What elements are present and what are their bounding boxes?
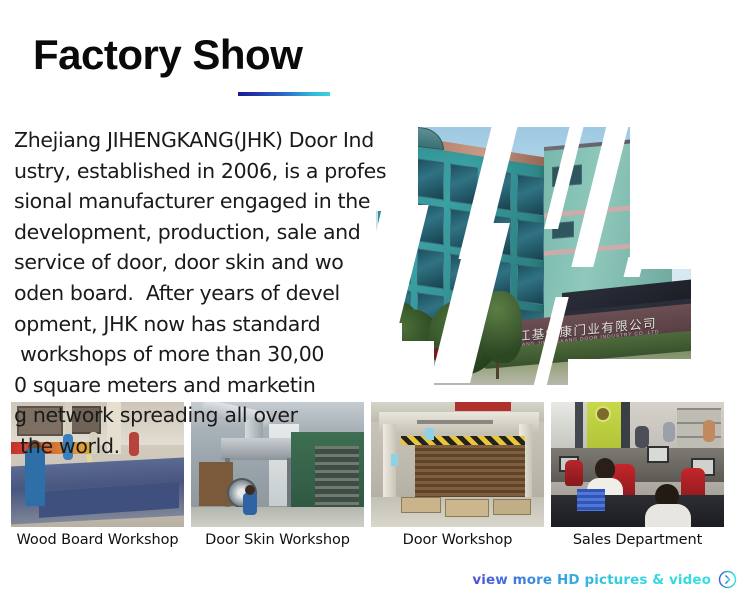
caption-wood-board-workshop: Wood Board Workshop: [11, 532, 184, 548]
staff-body: [645, 504, 691, 527]
title-underline-accent: [238, 92, 330, 96]
thumbnail-caption-row: Wood Board Workshop Door Skin Workshop D…: [11, 532, 739, 548]
view-more-link[interactable]: view more HD pictures & video: [472, 570, 737, 589]
window: [517, 174, 544, 216]
blue-crate: [577, 489, 605, 511]
staff-member: [635, 426, 649, 448]
staff-head: [595, 458, 615, 480]
stacked-door-panels: [415, 445, 525, 503]
view-more-label: view more HD pictures & video: [472, 572, 711, 588]
worker-head: [245, 485, 255, 495]
company-intro-text: Zhejiang JIHENGKANG(JHK) Door Ind ustry,…: [14, 125, 430, 462]
window: [517, 264, 544, 306]
worker-body: [243, 493, 257, 515]
chevron-right-circle-icon[interactable]: [718, 570, 737, 589]
frame-cut: [630, 127, 691, 269]
frame-cut: [568, 359, 691, 385]
red-sign: [455, 402, 511, 411]
floor: [191, 507, 364, 527]
caption-sales-department: Sales Department: [551, 532, 724, 548]
caption-door-skin-workshop: Door Skin Workshop: [191, 532, 364, 548]
wall-emblem: [595, 406, 611, 422]
wood-pallet: [401, 497, 441, 513]
wood-pallet: [493, 499, 531, 515]
wood-pallet: [445, 499, 489, 517]
caption-door-workshop: Door Workshop: [371, 532, 544, 548]
monitor: [647, 446, 669, 463]
office-window: [551, 402, 575, 452]
window: [517, 219, 544, 261]
page-title: Factory Show: [33, 33, 302, 77]
factory-show-page: Factory Show Zhejiang JIHENGKANG(JHK) Do…: [0, 0, 750, 613]
staff-member: [663, 422, 675, 442]
staff-member: [703, 420, 715, 442]
thumbnail-sales-department[interactable]: [551, 402, 724, 527]
red-office-chair: [565, 460, 583, 486]
